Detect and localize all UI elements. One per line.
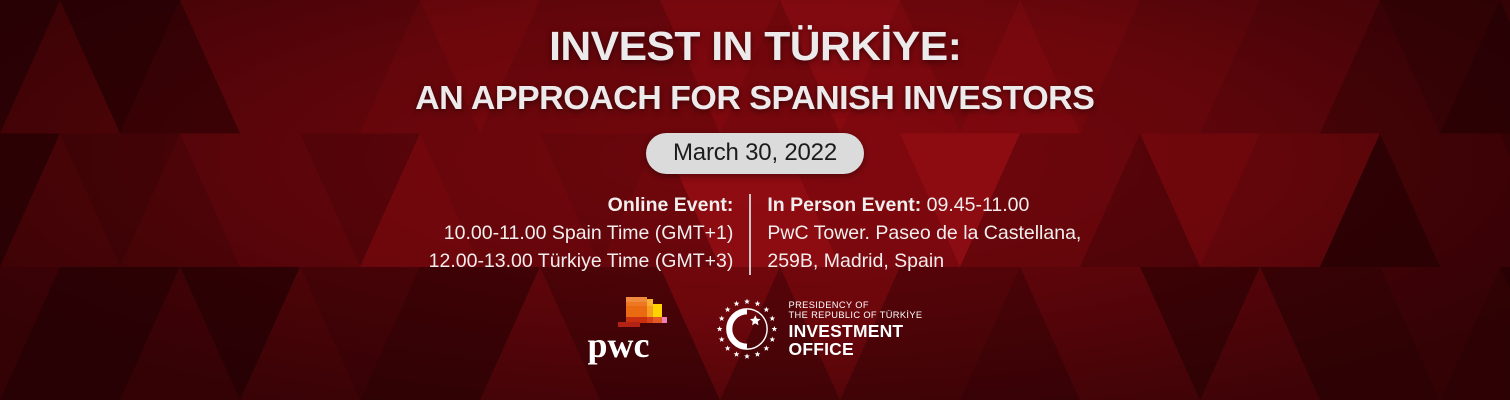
event-banner: INVEST IN TÜRKİYE: AN APPROACH FOR SPANI… [0, 0, 1510, 400]
online-event-label: Online Event: [429, 192, 734, 220]
in-person-event-address-line1: PwC Tower. Paseo de la Castellana, [767, 220, 1081, 248]
in-person-event-label: In Person Event: [767, 194, 921, 216]
emblem-star [724, 346, 730, 351]
in-person-event-time: 09.45-11.00 [927, 194, 1030, 216]
emblem-star [718, 337, 724, 342]
event-details: Online Event: 10.00-11.00 Spain Time (GM… [429, 192, 1082, 275]
online-event-time-turkiye: 12.00-13.00 Türkiye Time (GMT+3) [429, 248, 734, 276]
emblem-star [754, 301, 760, 306]
banner-content: INVEST IN TÜRKİYE: AN APPROACH FOR SPANI… [0, 0, 1510, 400]
in-person-event-headline: In Person Event: 09.45-11.00 [767, 192, 1081, 220]
pwc-wordmark: pwc [588, 327, 672, 363]
pwc-color-blocks-icon [618, 295, 672, 331]
event-date-badge: March 30, 2022 [646, 133, 864, 174]
emblem-star [763, 346, 769, 351]
emblem-star [769, 316, 775, 321]
investment-office-logo: PRESIDENCY OF THE REPUBLIC OF TÜRKİYE IN… [714, 296, 923, 362]
online-event-time-spain: 10.00-11.00 Spain Time (GMT+1) [429, 220, 734, 248]
pwc-logo: pwc [588, 295, 672, 363]
in-person-event-column: In Person Event: 09.45-11.00 PwC Tower. … [751, 192, 1081, 275]
emblem-star [763, 307, 769, 312]
emblem-star [733, 352, 739, 357]
emblem-star [754, 352, 760, 357]
emblem-star [769, 337, 775, 342]
banner-title-secondary: AN APPROACH FOR SPANISH INVESTORS [415, 81, 1094, 114]
in-person-event-address-line2: 259B, Madrid, Spain [767, 248, 1081, 276]
emblem-star [771, 326, 777, 331]
banner-title-primary: INVEST IN TÜRKİYE: [549, 26, 961, 67]
investment-office-text: PRESIDENCY OF THE REPUBLIC OF TÜRKİYE IN… [789, 300, 923, 359]
emblem-star [718, 316, 724, 321]
io-republic-line: THE REPUBLIC OF TÜRKİYE [789, 310, 923, 320]
emblem-star [744, 299, 750, 304]
turkiye-crescent-star-emblem-icon [714, 296, 780, 362]
emblem-star [724, 307, 730, 312]
io-office-line: OFFICE [789, 341, 923, 359]
emblem-star [716, 326, 722, 331]
logo-row: pwc PRESIDENCY OF THE REPUBLIC OF TÜRKİY… [588, 295, 923, 363]
emblem-star [733, 301, 739, 306]
online-event-column: Online Event: 10.00-11.00 Spain Time (GM… [429, 192, 750, 275]
emblem-star [744, 354, 750, 359]
io-presidency-line: PRESIDENCY OF [789, 300, 923, 310]
